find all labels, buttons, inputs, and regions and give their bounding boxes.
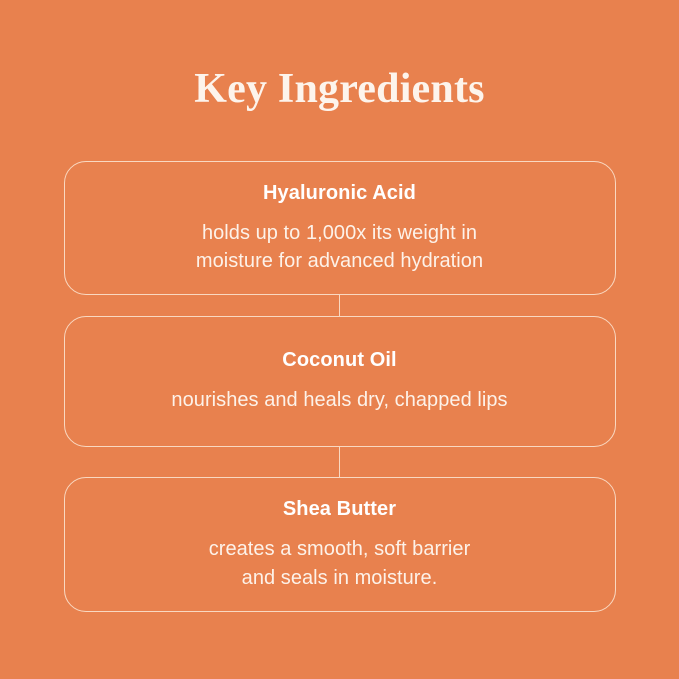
ingredient-description: nourishes and heals dry, chapped lips: [171, 386, 507, 414]
connector-line-2: [339, 447, 340, 477]
ingredient-card-coconut-oil: Coconut Oil nourishes and heals dry, cha…: [64, 316, 616, 447]
ingredient-card-stack: Hyaluronic Acid holds up to 1,000x its w…: [64, 161, 616, 612]
key-ingredients-poster: Key Ingredients Hyaluronic Acid holds up…: [0, 0, 679, 679]
ingredient-card-shea-butter: Shea Butter creates a smooth, soft barri…: [64, 477, 616, 612]
ingredient-title: Coconut Oil: [282, 348, 396, 373]
ingredient-title: Shea Butter: [283, 497, 396, 522]
ingredient-description: creates a smooth, soft barrier and seals…: [209, 535, 471, 592]
page-title: Key Ingredients: [194, 68, 484, 110]
connector-line-1: [339, 295, 340, 316]
ingredient-description: holds up to 1,000x its weight in moistur…: [196, 219, 483, 276]
ingredient-card-hyaluronic-acid: Hyaluronic Acid holds up to 1,000x its w…: [64, 161, 616, 295]
ingredient-title: Hyaluronic Acid: [263, 181, 416, 206]
